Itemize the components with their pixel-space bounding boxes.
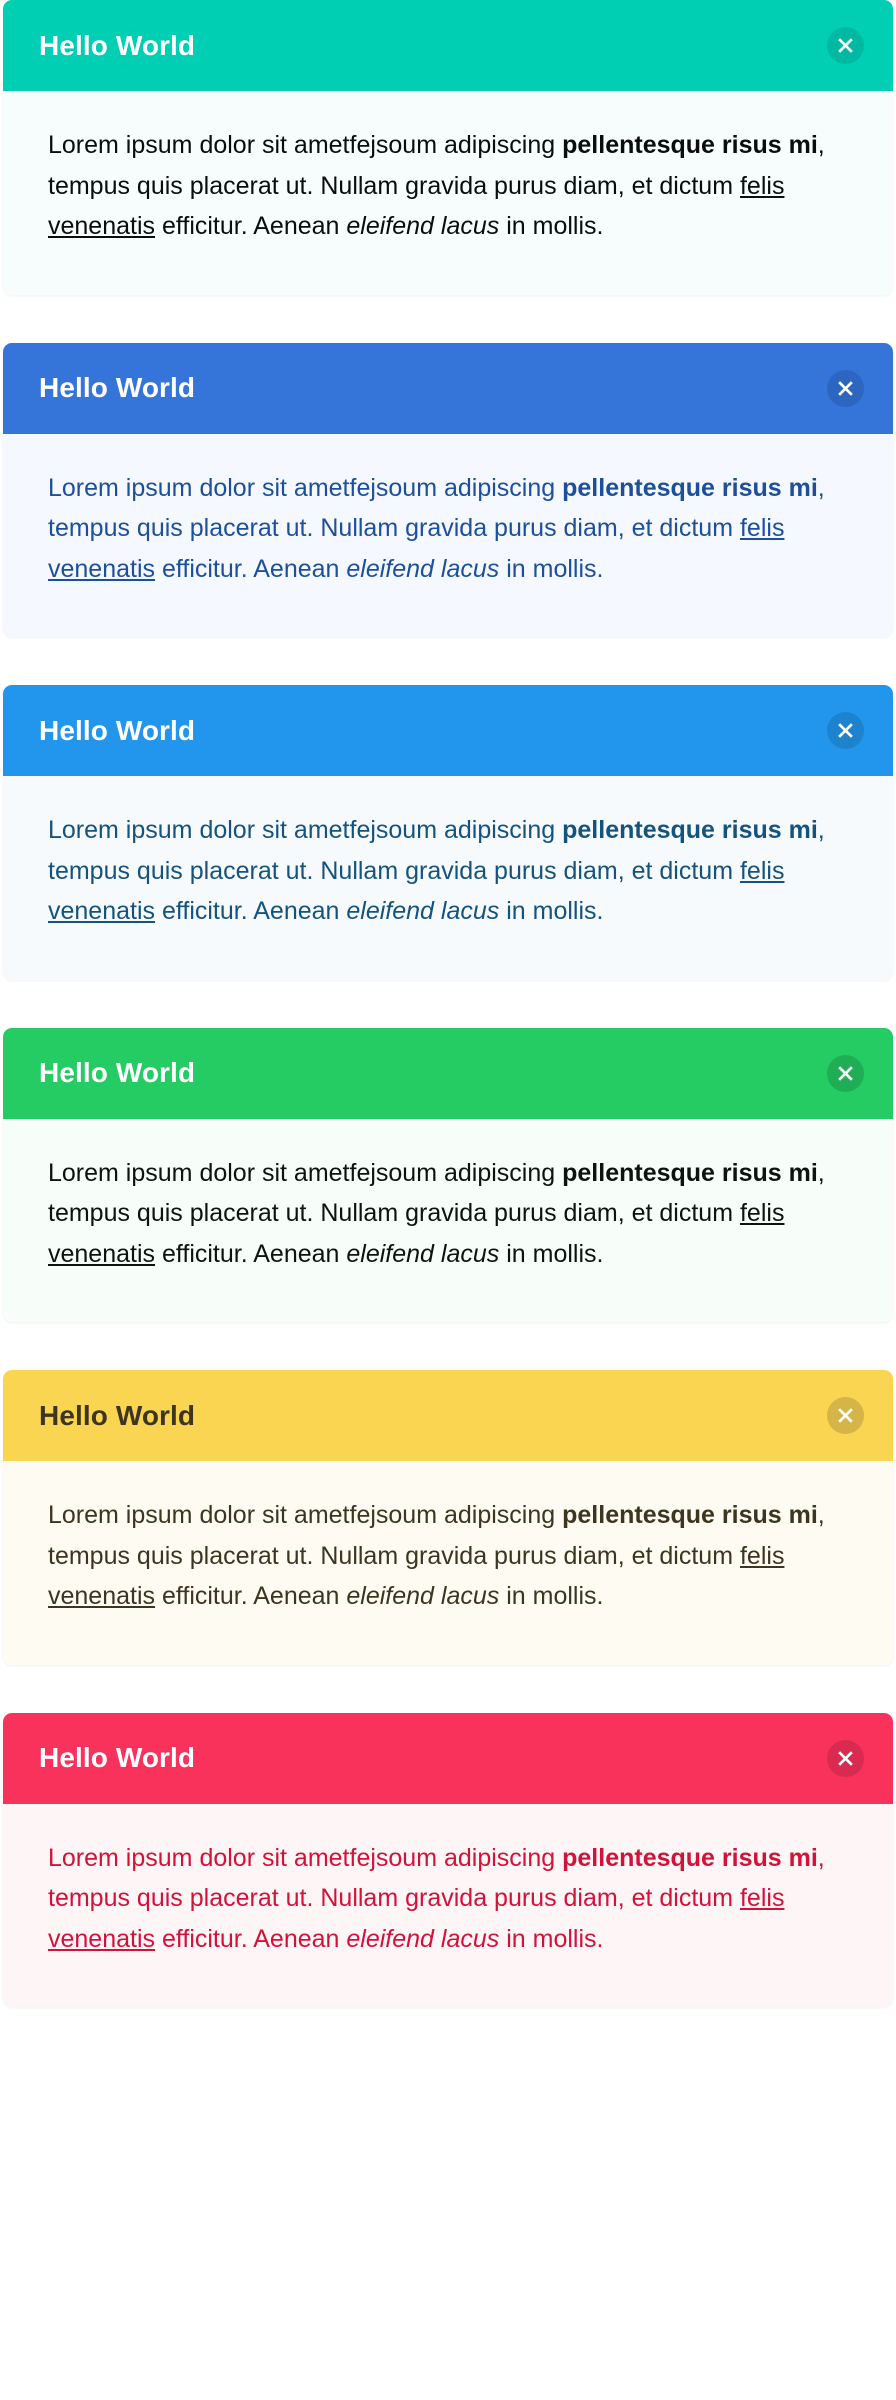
- text-lead: Lorem ipsum dolor sit ametfejsoum adipis…: [48, 131, 562, 159]
- alert-text: Lorem ipsum dolor sit ametfejsoum adipis…: [48, 1838, 848, 1960]
- text-tail: in mollis.: [499, 1925, 603, 1953]
- close-icon: [837, 1065, 854, 1082]
- text-italic: eleifend lacus: [346, 897, 499, 925]
- close-button[interactable]: [827, 370, 864, 407]
- alert-text: Lorem ipsum dolor sit ametfejsoum adipis…: [48, 1495, 848, 1617]
- alert-text: Lorem ipsum dolor sit ametfejsoum adipis…: [48, 1153, 848, 1275]
- alert-title: Hello World: [39, 1402, 195, 1430]
- text-bold: pellentesque risus mi: [562, 1159, 818, 1187]
- text-tail: in mollis.: [499, 555, 603, 583]
- alert-title: Hello World: [39, 1744, 195, 1772]
- alert-card-blue: Hello World Lorem ipsum dolor sit ametfe…: [3, 343, 893, 638]
- text-bold: pellentesque risus mi: [562, 816, 818, 844]
- text-lead: Lorem ipsum dolor sit ametfejsoum adipis…: [48, 1159, 562, 1187]
- alert-header: Hello World: [3, 1028, 893, 1119]
- text-mid2: efficitur. Aenean: [155, 1582, 346, 1610]
- close-button[interactable]: [827, 1740, 864, 1777]
- alert-text: Lorem ipsum dolor sit ametfejsoum adipis…: [48, 810, 848, 932]
- alert-title: Hello World: [39, 1059, 195, 1087]
- alert-card-red: Hello World Lorem ipsum dolor sit ametfe…: [3, 1713, 893, 2008]
- text-italic: eleifend lacus: [346, 1240, 499, 1268]
- text-tail: in mollis.: [499, 1582, 603, 1610]
- alert-body: Lorem ipsum dolor sit ametfejsoum adipis…: [3, 91, 893, 295]
- alert-body: Lorem ipsum dolor sit ametfejsoum adipis…: [3, 434, 893, 638]
- text-italic: eleifend lacus: [346, 555, 499, 583]
- alert-header: Hello World: [3, 1713, 893, 1804]
- text-mid2: efficitur. Aenean: [155, 555, 346, 583]
- alert-header: Hello World: [3, 1370, 893, 1461]
- alert-card-cyan: Hello World Lorem ipsum dolor sit ametfe…: [3, 685, 893, 980]
- text-bold: pellentesque risus mi: [562, 131, 818, 159]
- text-mid2: efficitur. Aenean: [155, 212, 346, 240]
- text-mid2: efficitur. Aenean: [155, 1925, 346, 1953]
- close-button[interactable]: [827, 1397, 864, 1434]
- text-lead: Lorem ipsum dolor sit ametfejsoum adipis…: [48, 474, 562, 502]
- close-button[interactable]: [827, 1055, 864, 1092]
- text-tail: in mollis.: [499, 212, 603, 240]
- close-icon: [837, 722, 854, 739]
- alert-title: Hello World: [39, 717, 195, 745]
- alert-body: Lorem ipsum dolor sit ametfejsoum adipis…: [3, 1804, 893, 2008]
- alert-stack: Hello World Lorem ipsum dolor sit ametfe…: [0, 0, 896, 2007]
- text-italic: eleifend lacus: [346, 1582, 499, 1610]
- alert-card-green: Hello World Lorem ipsum dolor sit ametfe…: [3, 1028, 893, 1323]
- close-button[interactable]: [827, 712, 864, 749]
- text-lead: Lorem ipsum dolor sit ametfejsoum adipis…: [48, 816, 562, 844]
- alert-text: Lorem ipsum dolor sit ametfejsoum adipis…: [48, 125, 848, 247]
- text-italic: eleifend lacus: [346, 212, 499, 240]
- close-button[interactable]: [827, 27, 864, 64]
- alert-body: Lorem ipsum dolor sit ametfejsoum adipis…: [3, 1119, 893, 1323]
- alert-card-teal: Hello World Lorem ipsum dolor sit ametfe…: [3, 0, 893, 295]
- alert-body: Lorem ipsum dolor sit ametfejsoum adipis…: [3, 776, 893, 980]
- text-mid2: efficitur. Aenean: [155, 1240, 346, 1268]
- text-bold: pellentesque risus mi: [562, 1501, 818, 1529]
- alert-header: Hello World: [3, 343, 893, 434]
- alert-header: Hello World: [3, 0, 893, 91]
- alert-title: Hello World: [39, 32, 195, 60]
- alert-card-yellow: Hello World Lorem ipsum dolor sit ametfe…: [3, 1370, 893, 1665]
- close-icon: [837, 1407, 854, 1424]
- text-italic: eleifend lacus: [346, 1925, 499, 1953]
- text-bold: pellentesque risus mi: [562, 1844, 818, 1872]
- alert-body: Lorem ipsum dolor sit ametfejsoum adipis…: [3, 1461, 893, 1665]
- close-icon: [837, 380, 854, 397]
- text-tail: in mollis.: [499, 1240, 603, 1268]
- text-lead: Lorem ipsum dolor sit ametfejsoum adipis…: [48, 1844, 562, 1872]
- alert-header: Hello World: [3, 685, 893, 776]
- text-tail: in mollis.: [499, 897, 603, 925]
- text-lead: Lorem ipsum dolor sit ametfejsoum adipis…: [48, 1501, 562, 1529]
- close-icon: [837, 37, 854, 54]
- alert-title: Hello World: [39, 374, 195, 402]
- text-bold: pellentesque risus mi: [562, 474, 818, 502]
- close-icon: [837, 1750, 854, 1767]
- text-mid2: efficitur. Aenean: [155, 897, 346, 925]
- alert-text: Lorem ipsum dolor sit ametfejsoum adipis…: [48, 468, 848, 590]
